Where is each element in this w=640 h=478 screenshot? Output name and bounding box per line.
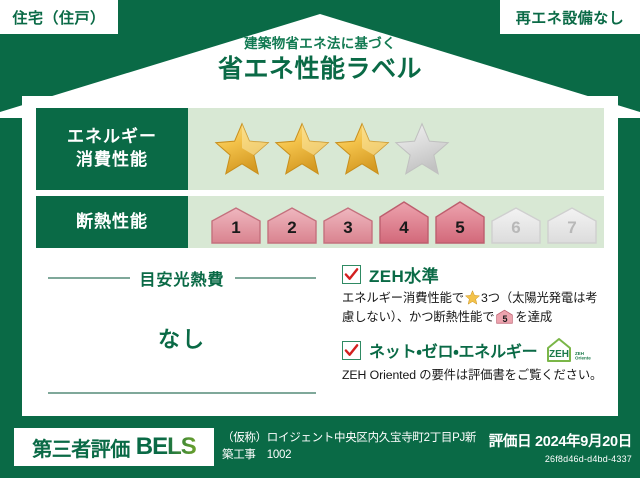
- svg-text:ZEH: ZEH: [549, 349, 569, 360]
- insulation-badge-label-7: 7: [567, 219, 576, 245]
- energy-performance-label: エネルギー 消費性能: [36, 108, 188, 190]
- insulation-badge-label-5: 5: [455, 219, 464, 245]
- insulation-badge-label-6: 6: [511, 219, 520, 245]
- star-icon-filled-2: [274, 122, 330, 176]
- energy-label-line2: 消費性能: [76, 149, 148, 172]
- checkbox-checked-net-zero-energy: [342, 341, 361, 360]
- label-footer: 第三者評価 BELS （仮称）ロイジェント中央区内久宝寺町2丁目PJ新築工事 1…: [0, 416, 640, 478]
- insulation-badge-3: 3: [322, 205, 374, 245]
- insulation-badge-label-4: 4: [399, 219, 408, 245]
- evaluation-date: 評価日 2024年9月20日: [489, 430, 632, 451]
- utility-cost-title: 目安光熱費: [140, 266, 225, 290]
- insulation-badge-1: 1: [210, 205, 262, 245]
- net-zero-energy-description: ZEH Oriented の要件は評価書をご覧ください。: [342, 366, 604, 385]
- insulation-badge-5: 5: [434, 199, 486, 245]
- insulation-badge-inline: 5: [496, 309, 513, 324]
- heading-title: 省エネ性能ラベル: [0, 55, 640, 84]
- insulation-badge-6: 6: [490, 205, 542, 245]
- insulation-badge-label-2: 2: [287, 219, 296, 245]
- zeh-oriented-logo-icon: ZEH ZEH Oriented: [545, 336, 591, 364]
- lower-section: 目安光熱費 なし ZEH水準 エネルギー消費性能で: [22, 256, 618, 416]
- energy-label-line1: エネルギー: [67, 126, 157, 149]
- checkbox-checked-zeh-standard: [342, 265, 361, 284]
- property-name: （仮称）ロイジェント中央区内久宝寺町2丁目PJ新築工事 1002: [222, 430, 482, 465]
- utility-cost-panel: 目安光熱費 なし: [22, 256, 342, 416]
- zeh-standard-heading: ZEH水準: [342, 262, 604, 287]
- insulation-badge-2: 2: [266, 205, 318, 245]
- bels-chip-jp-label: 第三者評価: [32, 433, 130, 462]
- zeh-desc-part-a: エネルギー消費性能で: [342, 291, 464, 305]
- star-rating-track: [188, 108, 604, 190]
- insulation-badge-4: 4: [378, 199, 430, 245]
- evaluation-date-value: 2024年9月20日: [535, 434, 632, 450]
- utility-cost-bottom-rule: [48, 392, 316, 394]
- rule-right: [235, 277, 317, 279]
- insulation-performance-label: 断熱性能: [36, 196, 188, 248]
- building-type-tag: 住宅（住戸）: [0, 0, 118, 34]
- star-icon-inline: [465, 290, 480, 305]
- star-icon-filled-3: [334, 122, 390, 176]
- heading-subtitle: 建築物省エネ法に基づく: [0, 36, 640, 52]
- insulation-performance-row: 断熱性能 1 2 3: [36, 196, 604, 248]
- insulation-badge-inline-label: 5: [496, 315, 513, 324]
- zeh-desc-part-c: を達成: [515, 310, 552, 324]
- label-heading: 建築物省エネ法に基づく 省エネ性能ラベル: [0, 36, 640, 84]
- insulation-level-track: 1 2 3 4: [188, 196, 604, 248]
- utility-cost-value: なし: [48, 322, 316, 354]
- zeh-panel: ZEH水準 エネルギー消費性能で 3つ（太陽光発電は考慮しない）、かつ断熱性能で…: [342, 256, 618, 416]
- bels-chip-en-label: BELS: [136, 433, 196, 461]
- zeh-desc-star-count: 3つ（太陽光発電: [481, 291, 573, 305]
- svg-text:Oriented: Oriented: [575, 356, 591, 361]
- insulation-badge-label-3: 3: [343, 219, 352, 245]
- evaluation-info: 評価日 2024年9月20日 26f8d46d-d4bd-4337: [489, 430, 632, 464]
- star-icon-filled-1: [214, 122, 270, 176]
- rule-left: [48, 277, 130, 279]
- insulation-badge-label-1: 1: [231, 219, 240, 245]
- net-zero-energy-title: ネット・ゼロ・エネルギー: [369, 338, 537, 362]
- energy-performance-row: エネルギー 消費性能: [36, 108, 604, 190]
- utility-cost-title-row: 目安光熱費: [48, 266, 316, 290]
- renewable-equipment-tag: 再エネ設備なし: [500, 0, 640, 34]
- bels-certification-chip: 第三者評価 BELS: [14, 428, 214, 466]
- net-zero-energy-heading: ネット・ゼロ・エネルギー ZEH ZEH Oriented: [342, 336, 604, 364]
- zeh-standard-title: ZEH水準: [369, 262, 439, 287]
- evaluation-id: 26f8d46d-d4bd-4337: [489, 454, 632, 464]
- label-card: エネルギー 消費性能: [22, 96, 618, 416]
- star-icon-empty-4: [394, 122, 450, 176]
- zeh-standard-description: エネルギー消費性能で 3つ（太陽光発電は考慮しない）、かつ断熱性能で 5 を達成: [342, 289, 604, 327]
- evaluation-date-label: 評価日: [489, 434, 532, 450]
- energy-label-root: 住宅（住戸） 再エネ設備なし 建築物省エネ法に基づく 省エネ性能ラベル エネルギ…: [0, 0, 640, 478]
- insulation-badge-7: 7: [546, 205, 598, 245]
